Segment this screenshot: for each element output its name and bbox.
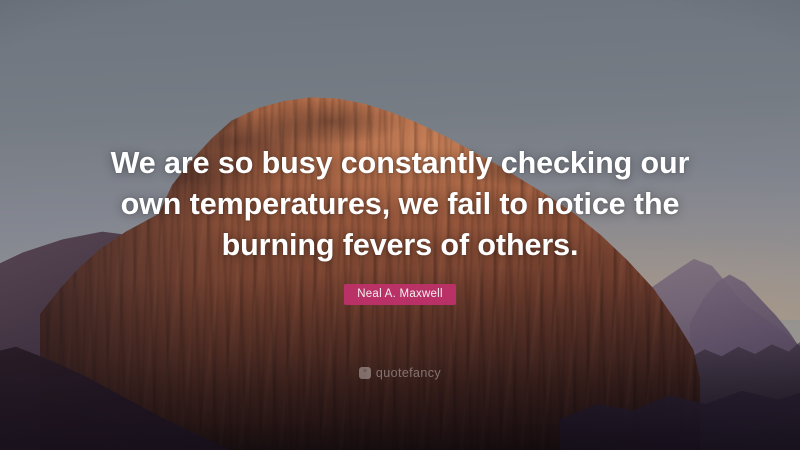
quote-mark-glyph: “ — [363, 369, 367, 377]
quote-mark-icon: “ — [359, 367, 371, 379]
author-badge-container: Neal A. Maxwell — [0, 284, 800, 305]
quote-text: We are so busy constantly checking our o… — [0, 143, 800, 266]
watermark-brand-label: quotefancy — [376, 366, 441, 380]
text-overlay: We are so busy constantly checking our o… — [0, 0, 800, 450]
author-name-badge: Neal A. Maxwell — [344, 284, 456, 305]
watermark: “ quotefancy — [0, 366, 800, 380]
quote-wallpaper: We are so busy constantly checking our o… — [0, 0, 800, 450]
